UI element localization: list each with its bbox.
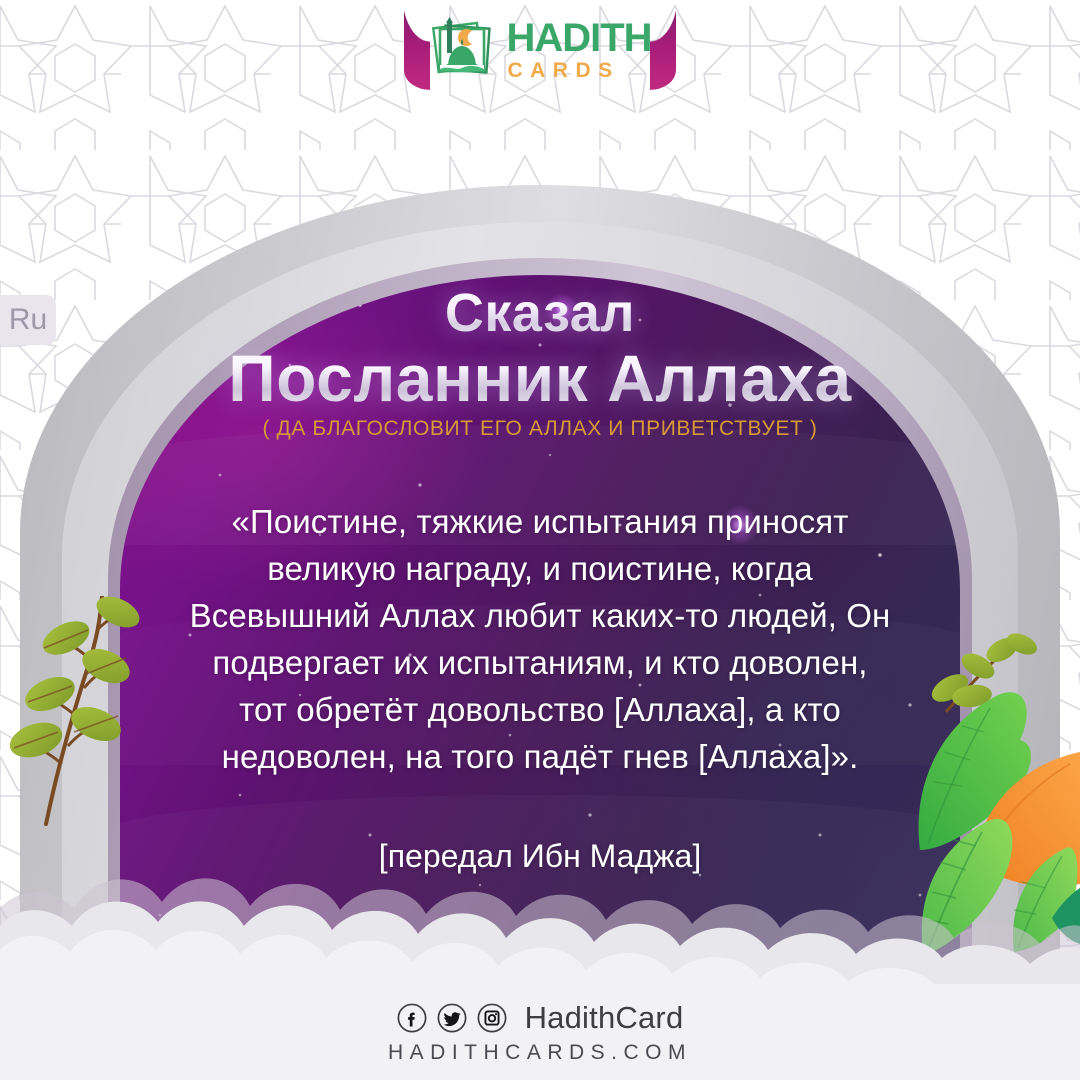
- language-badge[interactable]: Ru: [0, 295, 56, 345]
- instagram-icon[interactable]: [477, 1003, 507, 1033]
- footer-handle: HadithCard: [525, 1000, 684, 1036]
- footer-bar: HadithCard HADITHCARDS.COM: [0, 985, 1080, 1080]
- language-badge-label: Ru: [9, 303, 47, 337]
- logo-line-1: HADITH: [506, 18, 651, 58]
- logo-line-2: CARDS: [507, 60, 651, 81]
- leaf-branch-left-decoration: [0, 596, 144, 826]
- brand-logo[interactable]: HADITH CARDS: [0, 6, 1080, 92]
- hadith-card: HADITH CARDS Ru: [0, 0, 1080, 1080]
- facebook-icon[interactable]: [397, 1003, 427, 1033]
- twitter-icon[interactable]: [437, 1003, 467, 1033]
- cloud-decoration: [0, 798, 1080, 988]
- footer-domain: HADITHCARDS.COM: [388, 1041, 692, 1065]
- mosque-photo-cards-icon: [428, 17, 496, 81]
